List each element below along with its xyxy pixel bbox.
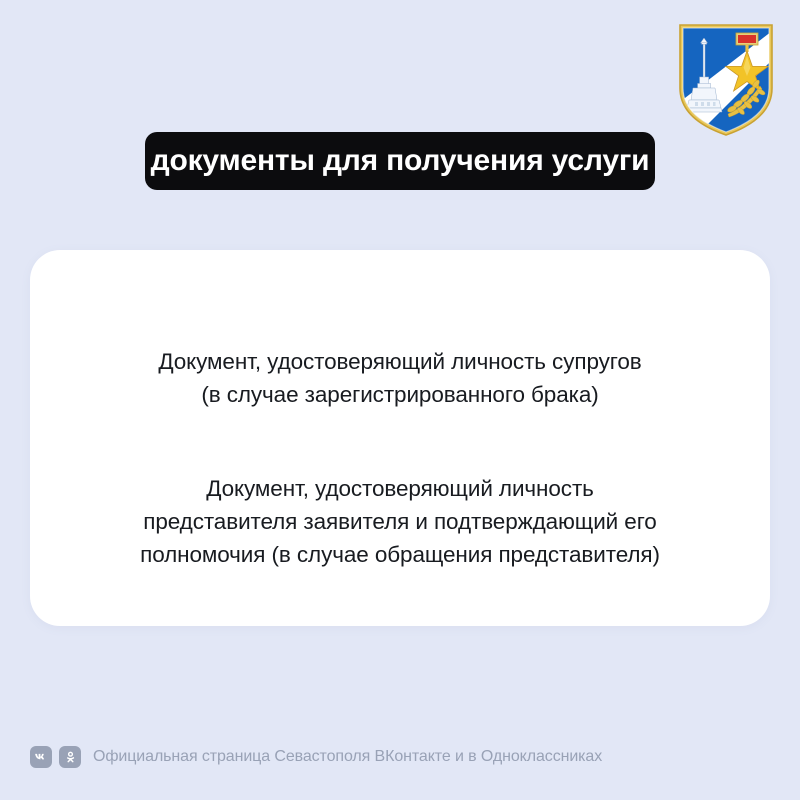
- ok-icon[interactable]: [59, 746, 81, 768]
- document-requirement-item: Документ, удостоверяющий личность супруг…: [158, 345, 641, 412]
- vk-icon[interactable]: [30, 746, 52, 768]
- sevastopol-coat-of-arms-icon: [676, 22, 776, 137]
- footer: Официальная страница Севастополя ВКонтак…: [30, 746, 602, 768]
- slide-root: документы для получения услуги Документ,…: [0, 0, 800, 800]
- footer-text: Официальная страница Севастополя ВКонтак…: [93, 748, 602, 766]
- page-title: документы для получения услуги: [151, 146, 650, 176]
- page-title-banner: документы для получения услуги: [145, 132, 655, 190]
- document-requirement-item: Документ, удостоверяющий личность предст…: [140, 472, 660, 572]
- documents-card: Документ, удостоверяющий личность супруг…: [30, 250, 770, 626]
